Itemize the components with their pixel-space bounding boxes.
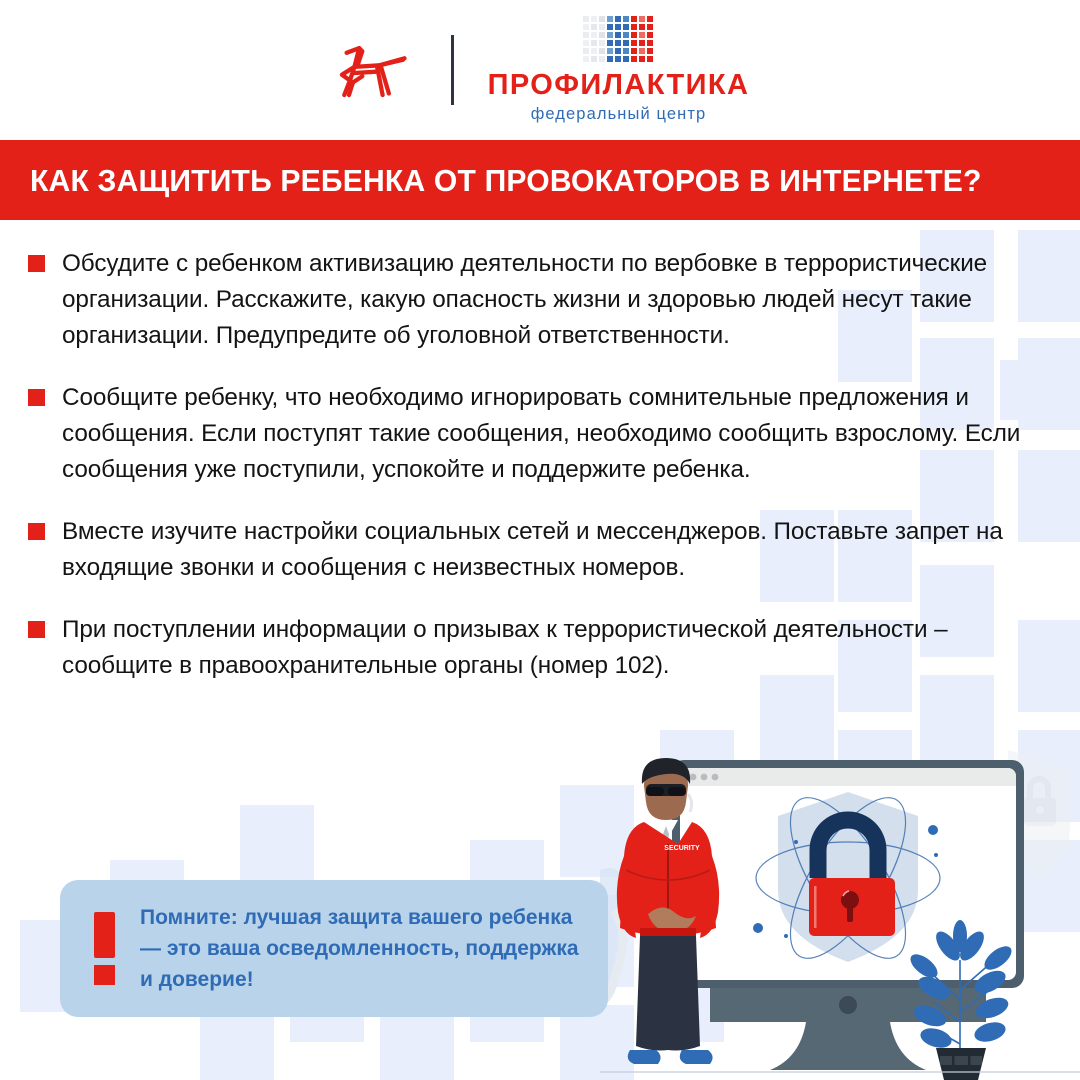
list-item: Вместе изучите настройки социальных сете… bbox=[62, 514, 1040, 586]
advice-list: Обсудите с ребенком активизацию деятельн… bbox=[0, 220, 1080, 684]
pixel-grid-logo-icon bbox=[583, 16, 653, 62]
infographic-page: ПРОФИЛАКТИКА федеральный центр КАК ЗАЩИТ… bbox=[0, 0, 1080, 1080]
list-item: При поступлении информации о призывах к … bbox=[62, 612, 1040, 684]
security-illustration: SECURITY bbox=[600, 750, 1080, 1080]
bullet-square-icon bbox=[28, 389, 45, 406]
list-item-text: При поступлении информации о призывах к … bbox=[62, 612, 1040, 684]
reminder-callout: Помните: лучшая защита вашего ребенка — … bbox=[60, 880, 608, 1017]
list-item-text: Вместе изучите настройки социальных сете… bbox=[62, 514, 1040, 586]
logo-divider bbox=[451, 35, 454, 105]
deer-line-mark-icon bbox=[331, 32, 417, 108]
title-banner: КАК ЗАЩИТИТЬ РЕБЕНКА ОТ ПРОВОКАТОРОВ В И… bbox=[0, 140, 1080, 220]
brand-name: ПРОФИЛАКТИКА bbox=[488, 71, 750, 100]
list-item-text: Сообщите ребенку, что необходимо игнорир… bbox=[62, 380, 1040, 488]
brand-subtitle: федеральный центр bbox=[531, 105, 707, 124]
list-item: Сообщите ребенку, что необходимо игнорир… bbox=[62, 380, 1040, 488]
exclamation-mark-icon bbox=[86, 912, 122, 985]
list-item-text: Обсудите с ребенком активизацию деятельн… bbox=[62, 246, 1040, 354]
reminder-text: Помните: лучшая защита вашего ребенка — … bbox=[140, 902, 582, 995]
page-title: КАК ЗАЩИТИТЬ РЕБЕНКА ОТ ПРОВОКАТОРОВ В И… bbox=[30, 165, 982, 196]
list-item: Обсудите с ребенком активизацию деятельн… bbox=[62, 246, 1040, 354]
bullet-square-icon bbox=[28, 621, 45, 638]
bullet-square-icon bbox=[28, 523, 45, 540]
guard-badge-text: SECURITY bbox=[664, 845, 700, 852]
brand-header: ПРОФИЛАКТИКА федеральный центр bbox=[0, 0, 1080, 140]
bullet-square-icon bbox=[28, 255, 45, 272]
